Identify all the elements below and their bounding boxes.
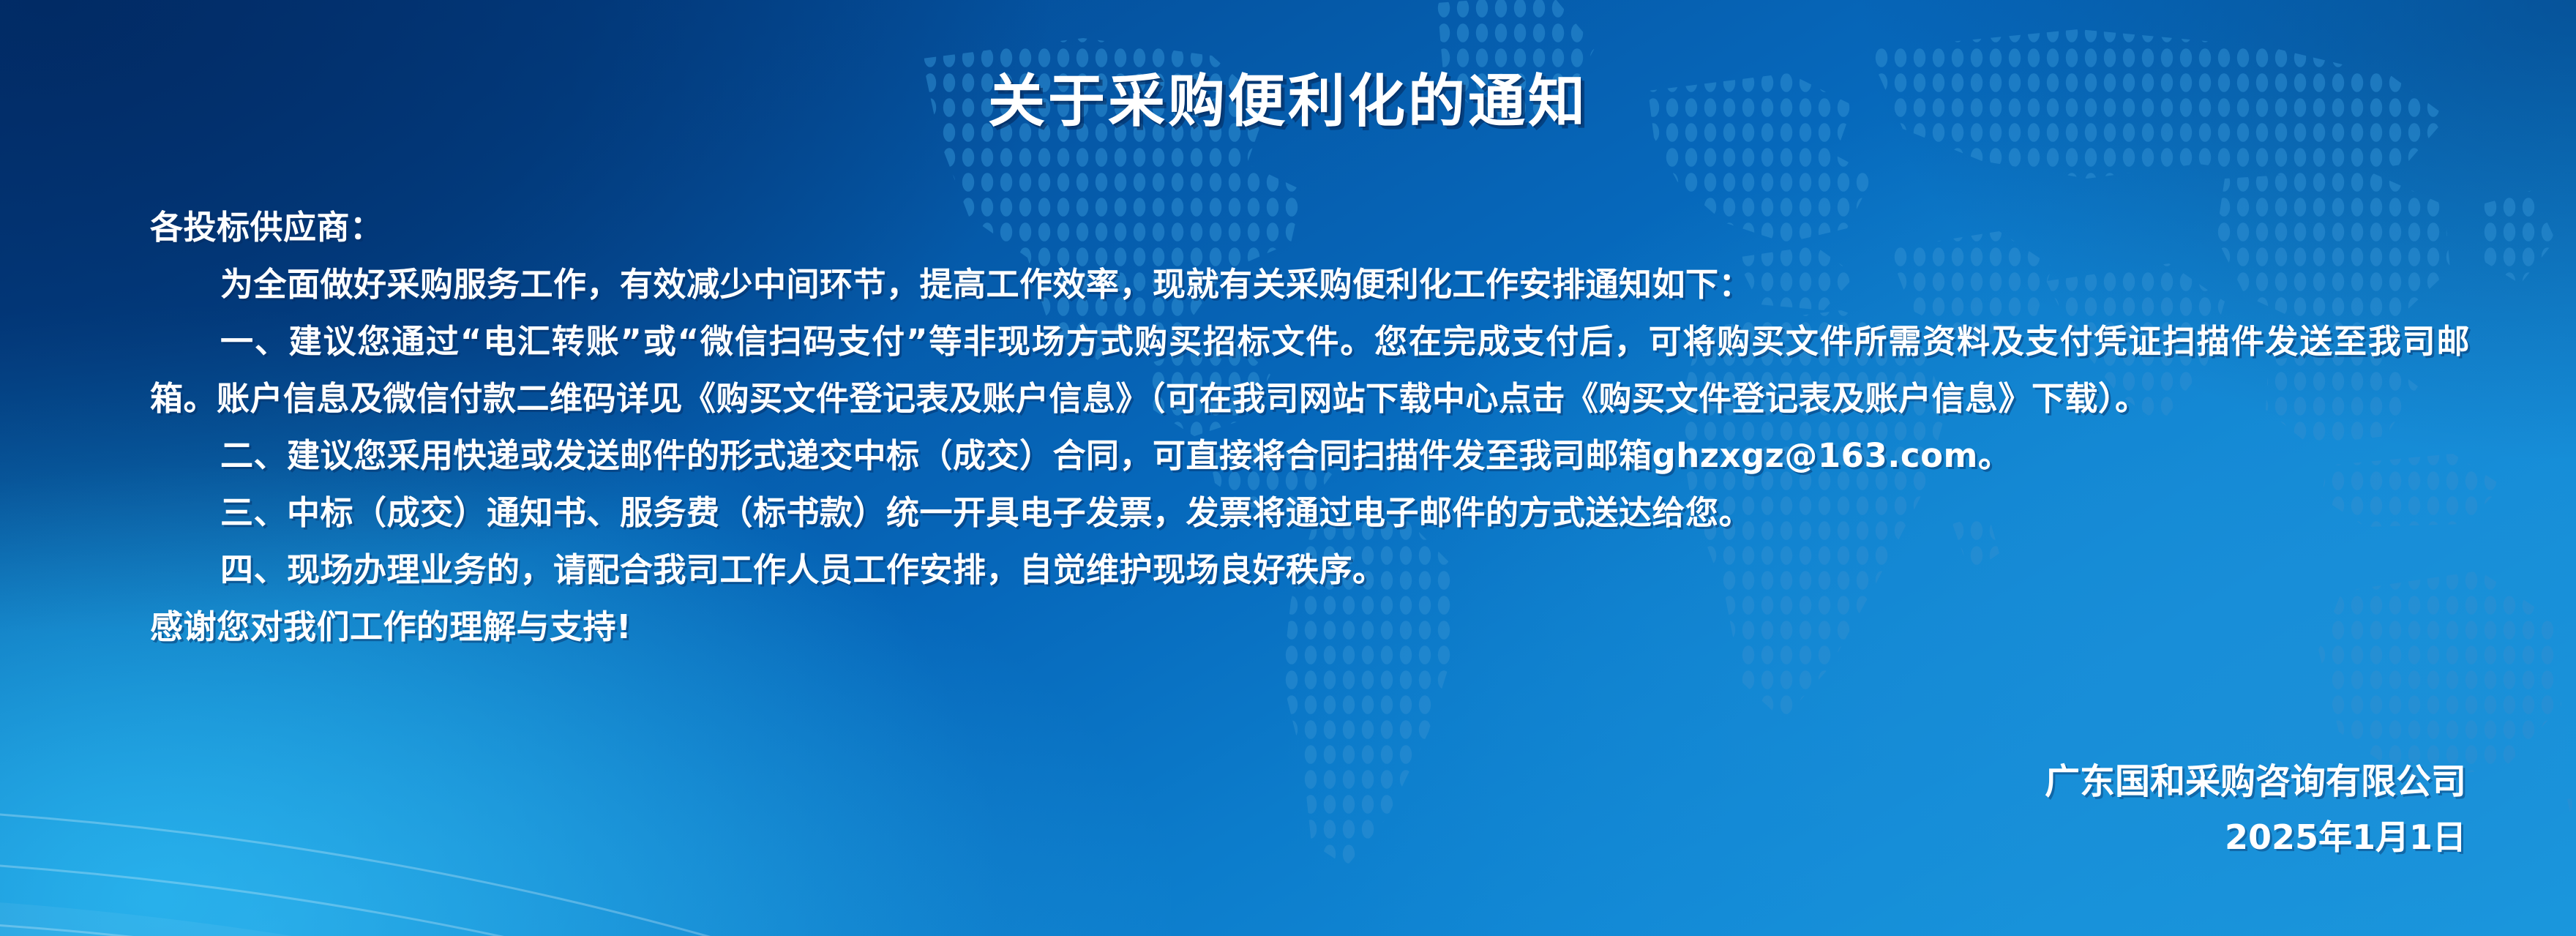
- signature-block: 广东国和采购咨询有限公司 2025年1月1日: [1442, 754, 2466, 865]
- paragraph-item-2: 二、建议您采用快递或发送邮件的形式递交中标（成交）合同，可直接将合同扫描件发至我…: [150, 427, 2470, 484]
- signature-date: 2025年1月1日: [1442, 809, 2466, 865]
- paragraph-item-1: 一、建议您通过“电汇转账”或“微信扫码支付”等非现场方式购买招标文件。您在完成支…: [150, 313, 2470, 427]
- closing-line: 感谢您对我们工作的理解与支持!: [150, 599, 2470, 656]
- notice-body: 各投标供应商： 为全面做好采购服务工作，有效减少中间环节，提高工作效率，现就有关…: [150, 199, 2470, 656]
- notice-content: 关于采购便利化的通知 各投标供应商： 为全面做好采购服务工作，有效减少中间环节，…: [0, 0, 2576, 936]
- paragraph-item-3: 三、中标（成交）通知书、服务费（标书款）统一开具电子发票，发票将通过电子邮件的方…: [150, 484, 2470, 542]
- notice-banner: 关于采购便利化的通知 各投标供应商： 为全面做好采购服务工作，有效减少中间环节，…: [0, 0, 2576, 936]
- paragraph-item-4: 四、现场办理业务的，请配合我司工作人员工作安排，自觉维护现场良好秩序。: [150, 542, 2470, 599]
- paragraph-intro: 为全面做好采购服务工作，有效减少中间环节，提高工作效率，现就有关采购便利化工作安…: [150, 256, 2470, 313]
- salutation: 各投标供应商：: [150, 199, 2470, 256]
- signature-company: 广东国和采购咨询有限公司: [1442, 754, 2466, 809]
- page-title: 关于采购便利化的通知: [0, 56, 2576, 138]
